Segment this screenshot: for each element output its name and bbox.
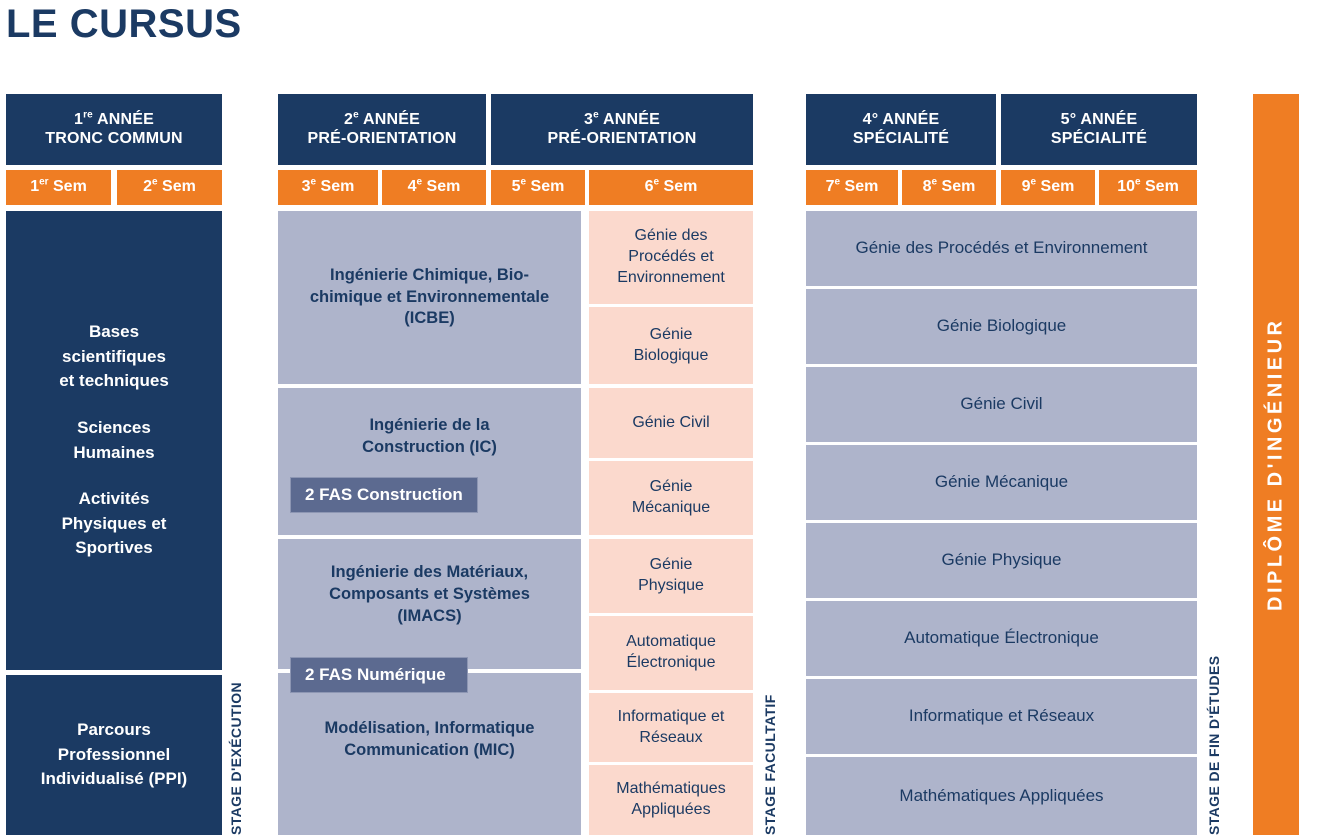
- tronc-commun-group-sport: Activités Physiques et Sportives: [62, 487, 167, 561]
- tc-line-7: Physiques et: [62, 512, 167, 537]
- ppi-block: Parcours Professionnel Individualisé (PP…: [6, 675, 222, 835]
- ppi-line-2: Professionnel: [58, 743, 170, 768]
- dept-icbe-line-2: chimique et Environnementale: [310, 287, 549, 309]
- dept-imacs-line-3: (IMACS): [397, 606, 461, 628]
- dept-mic-line-1: Modélisation, Informatique: [325, 718, 535, 740]
- semester-cell-7[interactable]: 7e Sem: [806, 170, 898, 205]
- curriculum-diagram: LE CURSUS 1re ANNÉE TRONC COMMUN 1er Sem…: [0, 0, 1325, 839]
- tc-line-3: et techniques: [59, 369, 169, 394]
- year-header-2-line2: PRÉ-ORIENTATION: [307, 130, 456, 149]
- badge-fas-construction[interactable]: 2 FAS Construction: [290, 477, 478, 513]
- ppi-line-1: Parcours: [77, 718, 151, 743]
- department-block-imacs[interactable]: Ingénierie des Matériaux, Composants et …: [278, 539, 581, 669]
- preorientation-option-5[interactable]: Génie Physique: [589, 539, 753, 613]
- semester-cell-4[interactable]: 4e Sem: [382, 170, 486, 205]
- semester-cell-8[interactable]: 8e Sem: [902, 170, 996, 205]
- preo-4-line-1: Génie: [650, 477, 693, 498]
- preorientation-option-6[interactable]: Automatique Électronique: [589, 616, 753, 690]
- semester-cell-5-label: 5e Sem: [512, 178, 565, 197]
- preo-7-line-1: Informatique et: [618, 707, 725, 728]
- year-header-5-line1: 5° ANNÉE: [1061, 111, 1138, 130]
- semester-cell-2[interactable]: 2e Sem: [117, 170, 222, 205]
- year-header-5-line2: SPÉCIALITÉ: [1051, 130, 1147, 149]
- preorientation-option-7[interactable]: Informatique et Réseaux: [589, 693, 753, 762]
- semester-cell-1-label: 1er Sem: [30, 178, 87, 197]
- preorientation-option-2[interactable]: Génie Biologique: [589, 307, 753, 384]
- year-header-2-line1: 2e ANNÉE: [344, 111, 420, 130]
- dept-mic-line-2: Communication (MIC): [344, 740, 515, 762]
- preo-2-line-2: Biologique: [634, 346, 709, 367]
- tc-line-2: scientifiques: [59, 345, 169, 370]
- dept-imacs-line-2: Composants et Systèmes: [329, 584, 530, 606]
- speciality-block-6[interactable]: Automatique Électronique: [806, 601, 1197, 676]
- preorientation-option-8[interactable]: Mathématiques Appliquées: [589, 765, 753, 835]
- semester-cell-10[interactable]: 10e Sem: [1099, 170, 1197, 205]
- preo-6-line-1: Automatique: [626, 632, 716, 653]
- diploma-label: DIPLÔME D'INGÉNIEUR: [1253, 94, 1299, 835]
- preo-8-line-1: Mathématiques: [616, 779, 725, 800]
- speciality-block-1[interactable]: Génie des Procédés et Environnement: [806, 211, 1197, 286]
- year-header-4-line2: SPÉCIALITÉ: [853, 130, 949, 149]
- semester-cell-3[interactable]: 3e Sem: [278, 170, 378, 205]
- semester-cell-6[interactable]: 6e Sem: [589, 170, 753, 205]
- preo-7-line-2: Réseaux: [639, 728, 702, 749]
- ppi-line-3: Individualisé (PPI): [41, 767, 187, 792]
- tronc-commun-block: Bases scientifiques et techniques Scienc…: [6, 211, 222, 670]
- semester-cell-5[interactable]: 5e Sem: [491, 170, 585, 205]
- dept-icbe-line-3: (ICBE): [404, 308, 454, 330]
- semester-cell-2-label: 2e Sem: [143, 178, 196, 197]
- tc-line-8: Sportives: [62, 536, 167, 561]
- semester-cell-10-label: 10e Sem: [1117, 178, 1179, 197]
- preo-1-line-2: Procédés et: [628, 247, 713, 268]
- dept-icbe-line-1: Ingénierie Chimique, Bio-: [330, 265, 529, 287]
- stage-fin-etudes-label: STAGE DE FIN D'ÉTUDES: [1206, 608, 1228, 835]
- preorientation-option-3[interactable]: Génie Civil: [589, 388, 753, 458]
- year-header-5: 5° ANNÉE SPÉCIALITÉ: [1001, 94, 1197, 165]
- stage-facultatif-label: STAGE FACULTATIF: [762, 645, 784, 835]
- preo-5-line-1: Génie: [650, 555, 693, 576]
- year-header-1: 1re ANNÉE TRONC COMMUN: [6, 94, 222, 165]
- semester-cell-9-label: 9e Sem: [1022, 178, 1075, 197]
- department-block-icbe[interactable]: Ingénierie Chimique, Bio- chimique et En…: [278, 211, 581, 384]
- tc-line-4: Sciences: [73, 416, 154, 441]
- preo-1-line-3: Environnement: [617, 268, 725, 289]
- tc-line-6: Activités: [62, 487, 167, 512]
- tronc-commun-group-sciences: Bases scientifiques et techniques: [59, 320, 169, 394]
- semester-cell-4-label: 4e Sem: [408, 178, 461, 197]
- semester-cell-3-label: 3e Sem: [302, 178, 355, 197]
- year-header-1-line2: TRONC COMMUN: [45, 130, 183, 149]
- semester-cell-6-label: 6e Sem: [645, 178, 698, 197]
- semester-cell-8-label: 8e Sem: [923, 178, 976, 197]
- page-title: LE CURSUS: [6, 2, 242, 47]
- preorientation-option-1[interactable]: Génie des Procédés et Environnement: [589, 211, 753, 304]
- year-header-3: 3e ANNÉE PRÉ-ORIENTATION: [491, 94, 753, 165]
- preo-1-line-1: Génie des: [635, 226, 708, 247]
- preo-2-line-1: Génie: [650, 325, 693, 346]
- year-header-3-line2: PRÉ-ORIENTATION: [547, 130, 696, 149]
- badge-fas-numerique[interactable]: 2 FAS Numérique: [290, 657, 468, 693]
- preo-6-line-2: Électronique: [627, 653, 716, 674]
- semester-cell-1[interactable]: 1er Sem: [6, 170, 111, 205]
- tronc-commun-group-humaines: Sciences Humaines: [73, 416, 154, 465]
- speciality-block-7[interactable]: Informatique et Réseaux: [806, 679, 1197, 754]
- year-header-3-line1: 3e ANNÉE: [584, 111, 660, 130]
- preo-4-line-2: Mécanique: [632, 498, 710, 519]
- tc-line-5: Humaines: [73, 441, 154, 466]
- stage-execution-label: STAGE D'EXÉCUTION: [228, 625, 250, 835]
- speciality-block-4[interactable]: Génie Mécanique: [806, 445, 1197, 520]
- speciality-block-3[interactable]: Génie Civil: [806, 367, 1197, 442]
- year-header-1-line1: 1re ANNÉE: [74, 111, 154, 130]
- semester-cell-7-label: 7e Sem: [826, 178, 879, 197]
- dept-ic-line-1: Ingénierie de la: [369, 415, 489, 437]
- speciality-block-5[interactable]: Génie Physique: [806, 523, 1197, 598]
- department-block-mic[interactable]: Modélisation, Informatique Communication…: [278, 673, 581, 835]
- speciality-block-2[interactable]: Génie Biologique: [806, 289, 1197, 364]
- dept-ic-line-2: Construction (IC): [362, 437, 497, 459]
- semester-cell-9[interactable]: 9e Sem: [1001, 170, 1095, 205]
- preo-3-line-1: Génie Civil: [632, 413, 709, 434]
- year-header-4: 4° ANNÉE SPÉCIALITÉ: [806, 94, 996, 165]
- tc-line-1: Bases: [59, 320, 169, 345]
- year-header-2: 2e ANNÉE PRÉ-ORIENTATION: [278, 94, 486, 165]
- speciality-block-8[interactable]: Mathématiques Appliquées: [806, 757, 1197, 835]
- preo-5-line-2: Physique: [638, 576, 704, 597]
- dept-imacs-line-1: Ingénierie des Matériaux,: [331, 562, 528, 584]
- year-header-4-line1: 4° ANNÉE: [863, 111, 940, 130]
- preo-8-line-2: Appliquées: [631, 800, 710, 821]
- preorientation-option-4[interactable]: Génie Mécanique: [589, 461, 753, 535]
